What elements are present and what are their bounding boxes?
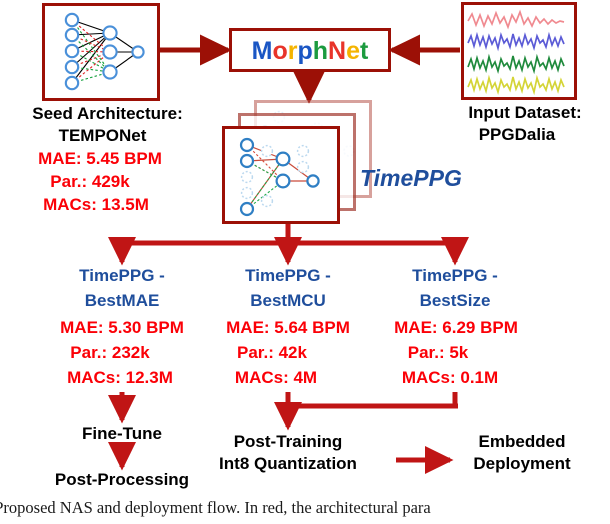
seed-network-graphic bbox=[45, 6, 157, 98]
timeppg-panel-front bbox=[222, 126, 340, 224]
seed-label-line2: TEMPONet bbox=[0, 126, 205, 146]
timeppg-net-front bbox=[225, 129, 337, 221]
dataset-label-line1: Input Dataset: bbox=[440, 103, 610, 123]
seed-mae: MAE: 5.45 BPM bbox=[0, 149, 200, 169]
flow-quantization-line2: Int8 Quantization bbox=[198, 454, 378, 474]
result-2-name-line1: TimePPG - bbox=[370, 266, 540, 286]
result-1-macs: MACs: 4M bbox=[186, 368, 366, 388]
timeppg-label: TimePPG bbox=[360, 165, 490, 191]
flow-post-processing: Post-Processing bbox=[22, 470, 222, 490]
morphnet-letter: M bbox=[252, 37, 273, 65]
flow-fine-tune: Fine-Tune bbox=[42, 424, 202, 444]
morphnet-letter: p bbox=[297, 37, 312, 65]
morphnet-letter: t bbox=[360, 37, 368, 65]
morphnet-label: MorphNet bbox=[232, 31, 388, 71]
dataset-label-line2: PPGDalia bbox=[432, 125, 602, 145]
morphnet-box[interactable]: MorphNet bbox=[229, 28, 391, 72]
result-1-par: Par.: 42k bbox=[182, 343, 362, 363]
dataset-signal-graphic bbox=[464, 5, 574, 97]
seed-label-line1: Seed Architecture: bbox=[0, 104, 215, 124]
morphnet-letter: N bbox=[328, 37, 346, 65]
result-2-mae: MAE: 6.29 BPM bbox=[366, 318, 546, 338]
result-2-par: Par.: 5k bbox=[348, 343, 528, 363]
result-0-name-line2: BestMAE bbox=[37, 291, 207, 311]
seed-par: Par.: 429k bbox=[0, 172, 180, 192]
result-0-name-line1: TimePPG - bbox=[37, 266, 207, 286]
morphnet-letter: o bbox=[272, 37, 287, 65]
result-1-mae: MAE: 5.64 BPM bbox=[198, 318, 378, 338]
seed-architecture-panel bbox=[42, 3, 160, 101]
flow-deployment-line2: Deployment bbox=[442, 454, 602, 474]
result-2-name-line2: BestSize bbox=[370, 291, 540, 311]
result-1-name-line1: TimePPG - bbox=[203, 266, 373, 286]
input-dataset-panel bbox=[461, 2, 577, 100]
result-1-name-line2: BestMCU bbox=[203, 291, 373, 311]
flow-deployment-line1: Embedded bbox=[442, 432, 602, 452]
flow-quantization-line1: Post-Training bbox=[208, 432, 368, 452]
result-0-par: Par.: 232k bbox=[20, 343, 200, 363]
result-2-macs: MACs: 0.1M bbox=[360, 368, 540, 388]
result-0-mae: MAE: 5.30 BPM bbox=[32, 318, 212, 338]
seed-macs: MACs: 13.5M bbox=[0, 195, 192, 215]
morphnet-letter: e bbox=[346, 37, 360, 65]
morphnet-letter: h bbox=[313, 37, 328, 65]
figure-caption: . Proposed NAS and deployment flow. In r… bbox=[0, 498, 610, 518]
result-0-macs: MACs: 12.3M bbox=[30, 368, 210, 388]
timeppg-stack bbox=[222, 100, 377, 220]
